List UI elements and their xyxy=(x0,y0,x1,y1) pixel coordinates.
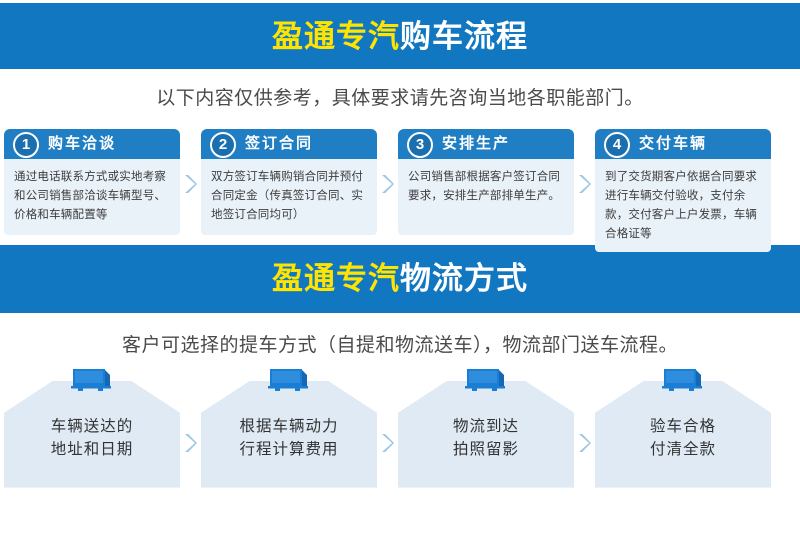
logistics-cards-row: 车辆送达的 地址和日期 根据车辆动力 行程计算费用 xyxy=(0,367,800,489)
step-card-2[interactable]: 2 签订合同 双方签订车辆购销合同并预付合同定金（传真签订合同、实地签订合同均可… xyxy=(201,129,377,235)
step-card-4[interactable]: 4 交付车辆 到了交货期客户依据合同要求进行车辆交付验收，支付余款，交付客户上户… xyxy=(595,129,771,252)
purchase-steps-row: 1 购车洽谈 通过电话联系方式或实地考察和公司销售部洽谈车辆型号、价格和车辆配置… xyxy=(0,129,800,239)
logistics-subtitle-container: 客户可选择的提车方式（自提和物流送车），物流部门送车流程。 xyxy=(0,335,800,358)
step-number-badge-2: 2 xyxy=(210,132,236,158)
step-title-1: 购车洽谈 xyxy=(48,136,116,151)
step-separator-1 xyxy=(180,129,201,239)
step-body-1: 通过电话联系方式或实地考察和公司销售部洽谈车辆型号、价格和车辆配置等 xyxy=(4,159,180,235)
truck-icon xyxy=(463,367,509,392)
chevron-right-icon xyxy=(578,174,591,194)
step-number-badge-1: 1 xyxy=(13,132,39,158)
logistics-card-line1-1: 车辆送达的 xyxy=(4,415,180,439)
logistics-separator-1 xyxy=(180,367,201,489)
step-title-3: 安排生产 xyxy=(442,136,510,151)
chevron-right-icon xyxy=(578,433,591,453)
purchase-process-title: 盈通专汽购车流程 xyxy=(272,21,528,52)
step-number-badge-4: 4 xyxy=(604,132,630,158)
logistics-card-line2-3: 拍照留影 xyxy=(398,438,574,462)
step-separator-2 xyxy=(377,129,398,239)
step-header-4: 4 交付车辆 xyxy=(595,129,771,159)
logistics-title-rest: 物流方式 xyxy=(400,261,528,296)
chevron-right-icon xyxy=(381,174,394,194)
chevron-right-icon xyxy=(184,433,197,453)
truck-icon xyxy=(266,367,312,392)
step-body-3: 公司销售部根据客户签订合同要求，安排生产部排单生产。 xyxy=(398,159,574,235)
logistics-card-text-3: 物流到达 拍照留影 xyxy=(398,415,574,462)
step-card-1[interactable]: 1 购车洽谈 通过电话联系方式或实地考察和公司销售部洽谈车辆型号、价格和车辆配置… xyxy=(4,129,180,235)
step-number-badge-3: 3 xyxy=(407,132,433,158)
logistics-card-3[interactable]: 物流到达 拍照留影 xyxy=(398,367,574,489)
logistics-card-line1-2: 根据车辆动力 xyxy=(201,415,377,439)
purchase-process-title-rest: 购车流程 xyxy=(400,19,528,54)
step-separator-3 xyxy=(574,129,595,239)
logistics-card-line1-3: 物流到达 xyxy=(398,415,574,439)
logistics-subtitle: 客户可选择的提车方式（自提和物流送车），物流部门送车流程。 xyxy=(122,335,678,358)
step-body-2: 双方签订车辆购销合同并预付合同定金（传真签订合同、实地签订合同均可） xyxy=(201,159,377,235)
step-header-1: 1 购车洽谈 xyxy=(4,129,180,159)
logistics-separator-3 xyxy=(574,367,595,489)
step-header-2: 2 签订合同 xyxy=(201,129,377,159)
step-card-3[interactable]: 3 安排生产 公司销售部根据客户签订合同要求，安排生产部排单生产。 xyxy=(398,129,574,235)
step-header-3: 3 安排生产 xyxy=(398,129,574,159)
purchase-process-banner: 盈通专汽购车流程 xyxy=(0,3,800,69)
logistics-title: 盈通专汽物流方式 xyxy=(272,263,528,294)
logistics-banner: 盈通专汽物流方式 xyxy=(0,245,800,313)
brand-name-highlight: 盈通专汽 xyxy=(272,261,400,296)
truck-icon xyxy=(69,367,115,392)
logistics-card-1[interactable]: 车辆送达的 地址和日期 xyxy=(4,367,180,489)
logistics-card-line2-1: 地址和日期 xyxy=(4,438,180,462)
purchase-subtitle-container: 以下内容仅供参考，具体要求请先咨询当地各职能部门。 xyxy=(0,88,800,111)
logistics-card-line1-4: 验车合格 xyxy=(595,415,771,439)
logistics-card-line2-4: 付清全款 xyxy=(595,438,771,462)
logistics-separator-2 xyxy=(377,367,398,489)
purchase-subtitle: 以下内容仅供参考，具体要求请先咨询当地各职能部门。 xyxy=(156,88,644,111)
logistics-card-line2-2: 行程计算费用 xyxy=(201,438,377,462)
step-title-4: 交付车辆 xyxy=(639,136,707,151)
logistics-card-text-1: 车辆送达的 地址和日期 xyxy=(4,415,180,462)
truck-icon xyxy=(660,367,706,392)
chevron-right-icon xyxy=(381,433,394,453)
logistics-card-2[interactable]: 根据车辆动力 行程计算费用 xyxy=(201,367,377,489)
logistics-card-text-4: 验车合格 付清全款 xyxy=(595,415,771,462)
step-title-2: 签订合同 xyxy=(245,136,313,151)
chevron-right-icon xyxy=(184,174,197,194)
step-body-4: 到了交货期客户依据合同要求进行车辆交付验收，支付余款，交付客户上户发票，车辆合格… xyxy=(595,159,771,252)
logistics-card-4[interactable]: 验车合格 付清全款 xyxy=(595,367,771,489)
logistics-card-text-2: 根据车辆动力 行程计算费用 xyxy=(201,415,377,462)
brand-name-highlight: 盈通专汽 xyxy=(272,19,400,54)
